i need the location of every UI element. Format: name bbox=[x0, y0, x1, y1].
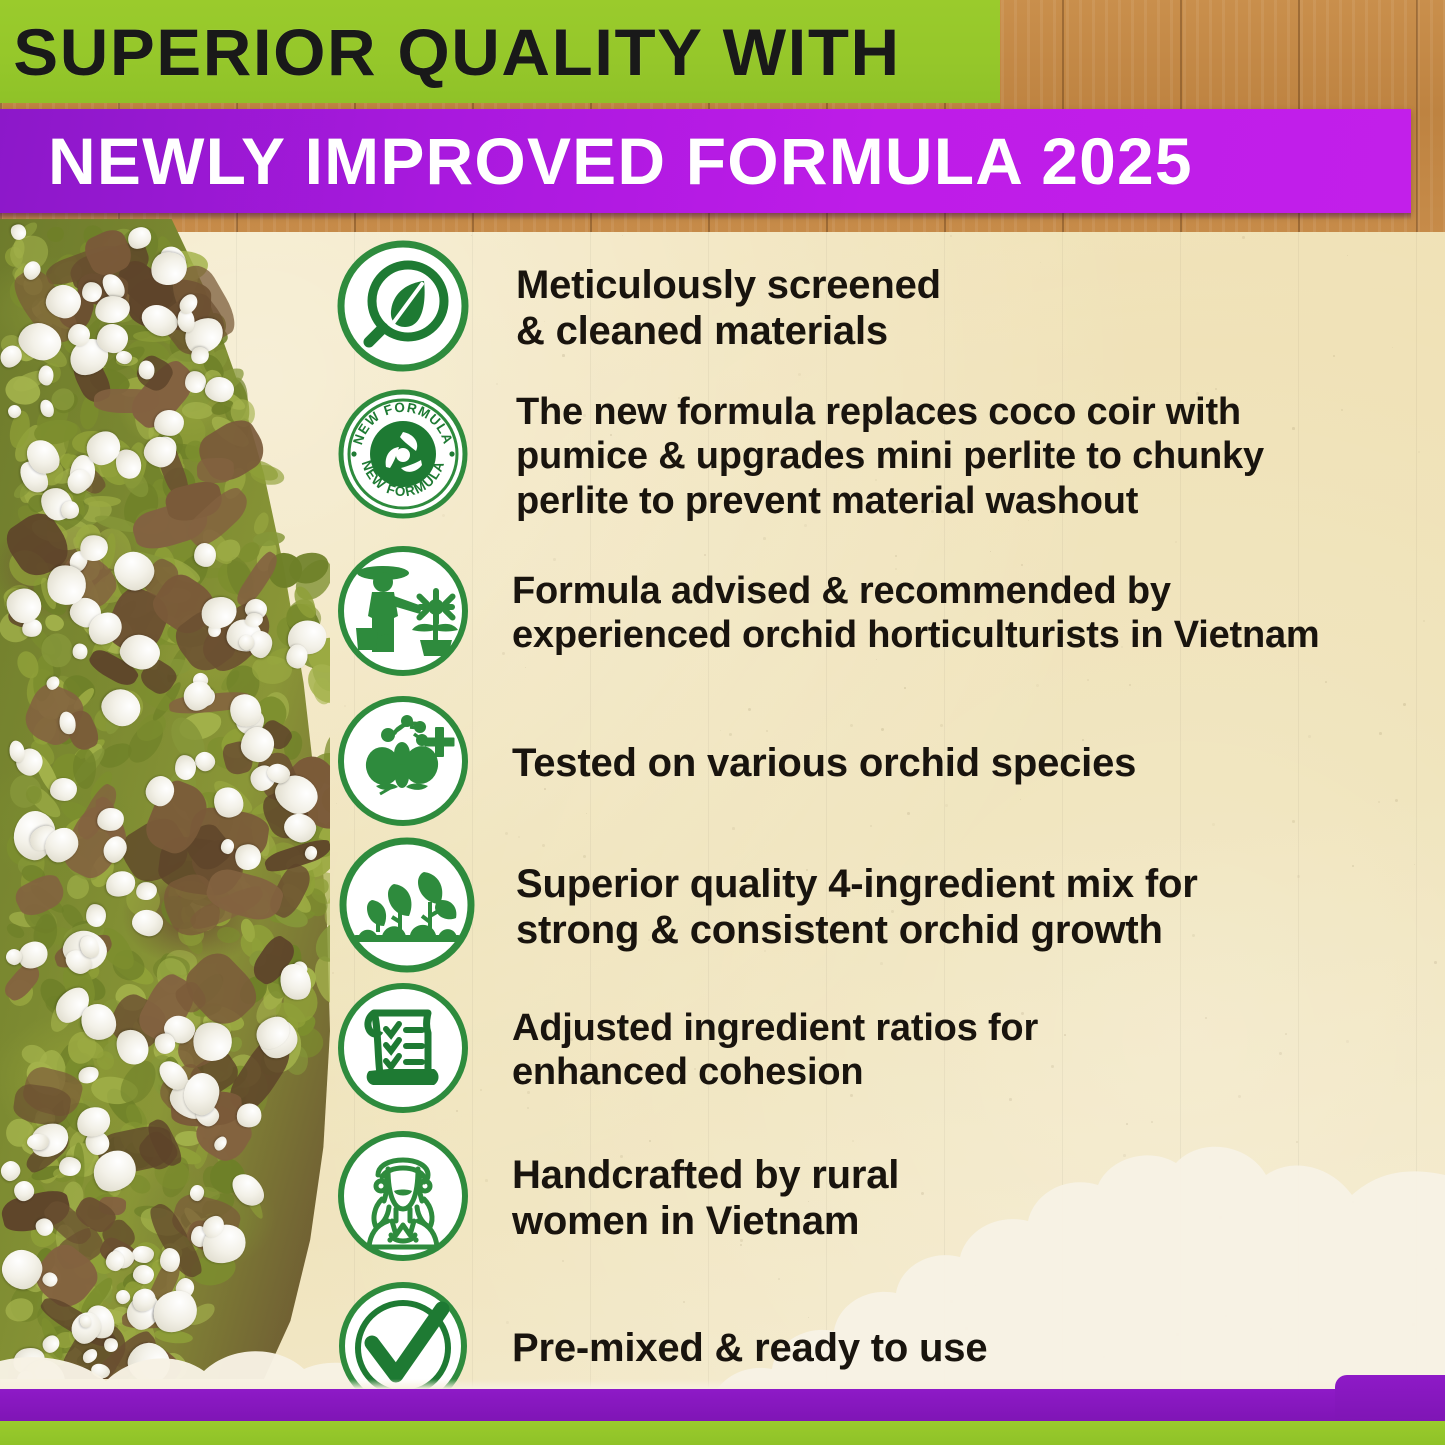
rural-woman-icon bbox=[336, 1129, 470, 1263]
growing-plants-icon bbox=[336, 834, 478, 976]
feature-text-6: Adjusted ingredient ratios for enhanced … bbox=[512, 1007, 1038, 1094]
footer-bar-purple bbox=[0, 1389, 1445, 1423]
feature-icon-2: NEW FORMULA NEW FORMULA bbox=[336, 387, 470, 526]
feature-text-8: Pre-mixed & ready to use bbox=[512, 1326, 987, 1372]
feature-row-1: Meticulously screened & cleaned material… bbox=[336, 239, 1416, 378]
header-band-green: SUPERIOR QUALITY WITH bbox=[0, 0, 1000, 103]
feature-text-3: Formula advised & recommended by experie… bbox=[512, 570, 1320, 657]
gardener-watering-flower-icon bbox=[336, 544, 470, 678]
feature-row-2: NEW FORMULA NEW FORMULA The new formula … bbox=[336, 387, 1416, 526]
feature-icon-4 bbox=[336, 694, 470, 833]
feature-row-7: Handcrafted by rural women in Vietnam bbox=[336, 1129, 1416, 1268]
footer-bar-green bbox=[0, 1421, 1445, 1445]
feature-text-2: The new formula replaces coco coir with … bbox=[516, 390, 1264, 522]
checklist-scroll-icon bbox=[336, 981, 470, 1115]
feature-row-3: Formula advised & recommended by experie… bbox=[336, 544, 1445, 683]
new-formula-badge-icon: NEW FORMULA NEW FORMULA bbox=[336, 387, 470, 521]
feature-icon-5 bbox=[336, 834, 478, 981]
feature-icon-7 bbox=[336, 1129, 470, 1268]
feature-row-4: Tested on various orchid species bbox=[336, 694, 1416, 833]
orchid-flower-plus-icon bbox=[336, 694, 470, 828]
feature-icon-1 bbox=[336, 239, 470, 378]
infographic-root: SUPERIOR QUALITY WITH NEWLY IMPROVED FOR… bbox=[0, 0, 1445, 1445]
footer-notch bbox=[1335, 1375, 1445, 1423]
footer-cream-fade bbox=[0, 1379, 1445, 1389]
feature-text-7: Handcrafted by rural women in Vietnam bbox=[512, 1153, 899, 1244]
feature-text-4: Tested on various orchid species bbox=[512, 741, 1136, 787]
features-list: Meticulously screened & cleaned material… bbox=[0, 219, 1445, 1379]
header-band-purple: NEWLY IMPROVED FORMULA 2025 bbox=[0, 109, 1411, 213]
feature-text-5: Superior quality 4-ingredient mix for st… bbox=[516, 862, 1198, 953]
feature-icon-3 bbox=[336, 544, 470, 683]
header-line-1: SUPERIOR QUALITY WITH bbox=[13, 19, 900, 85]
feature-row-5: Superior quality 4-ingredient mix for st… bbox=[336, 834, 1416, 981]
feature-row-6: Adjusted ingredient ratios for enhanced … bbox=[336, 981, 1416, 1120]
header-line-2: NEWLY IMPROVED FORMULA 2025 bbox=[48, 128, 1193, 194]
feature-text-1: Meticulously screened & cleaned material… bbox=[516, 263, 941, 354]
feature-icon-6 bbox=[336, 981, 470, 1120]
magnifier-leaf-icon bbox=[336, 239, 470, 373]
